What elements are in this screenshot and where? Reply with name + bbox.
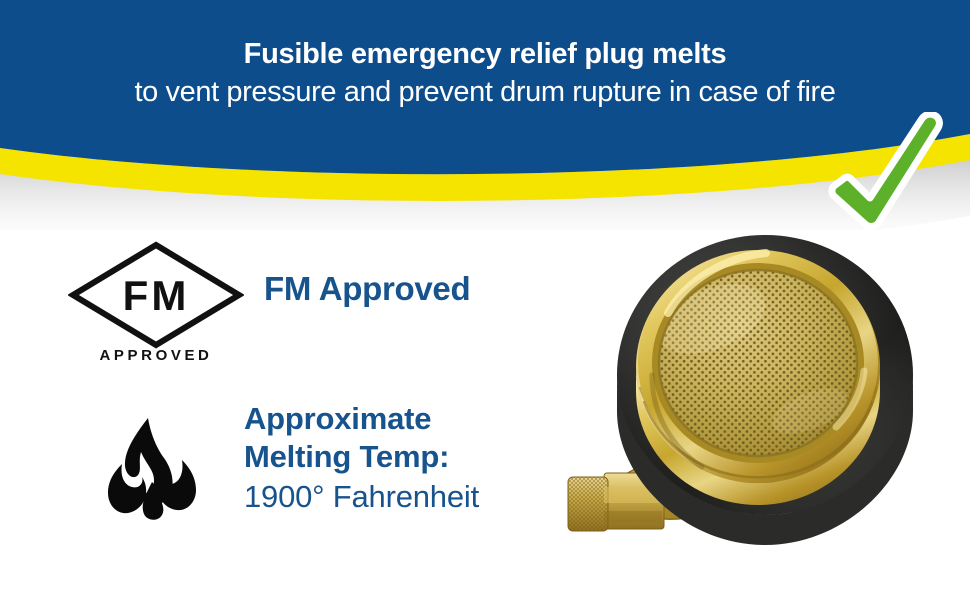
flame-icon <box>96 412 208 524</box>
melting-temp-value: 1900° Fahrenheit <box>244 476 564 518</box>
svg-text:FM: FM <box>123 272 190 319</box>
feature-melting-temp: Approximate Melting Temp: 1900° Fahrenhe… <box>0 400 560 560</box>
melting-temp-heading-1: Approximate <box>244 400 564 438</box>
fm-diamond-icon: FM APPROVED <box>68 240 244 362</box>
melting-temp-heading-2: Melting Temp: <box>244 438 564 476</box>
svg-text:APPROVED: APPROVED <box>100 347 213 362</box>
header-blue-fill <box>0 0 970 174</box>
feature-fm-approved: FM APPROVED FM Approved <box>0 240 560 370</box>
brass-vent-plug-photo <box>560 215 970 600</box>
promo-banner: Fusible emergency relief plug melts to v… <box>0 0 970 600</box>
melting-temp-text: Approximate Melting Temp: 1900° Fahrenhe… <box>244 400 564 518</box>
header-band <box>0 0 970 230</box>
green-check-icon <box>826 112 946 230</box>
fm-approved-label: FM Approved <box>264 270 470 308</box>
